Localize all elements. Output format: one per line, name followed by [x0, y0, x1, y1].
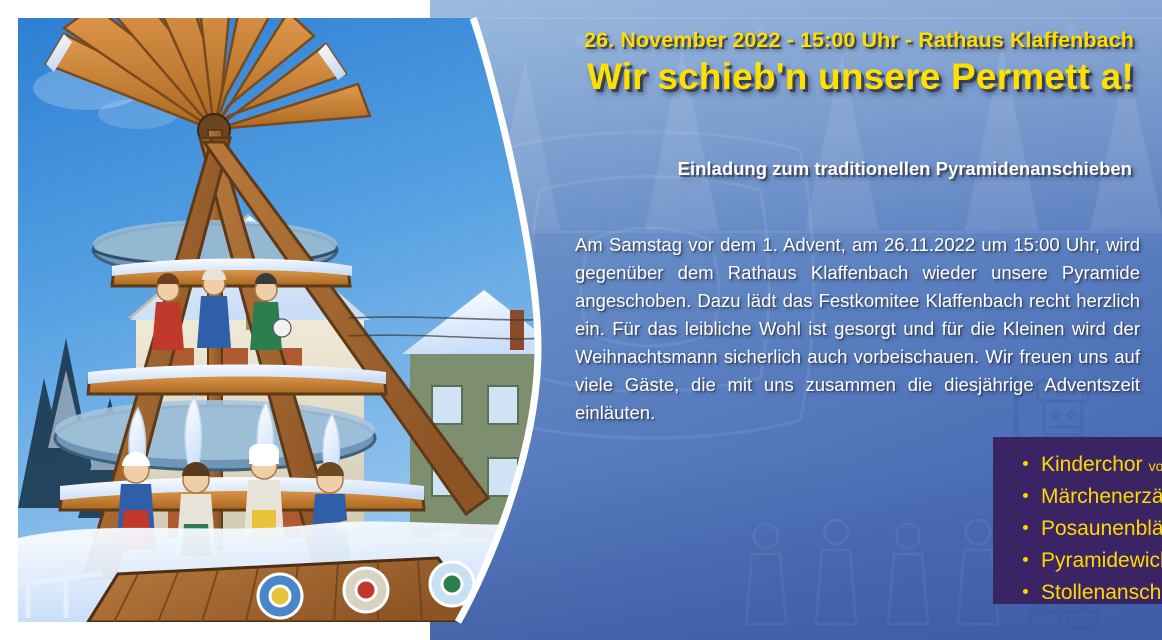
- carved-figures-watermark-icon: [732, 510, 1012, 640]
- bullet-dot-icon: [1023, 493, 1028, 498]
- program-box: Kinderchor von Grundschule und Kindergar…: [993, 437, 1162, 604]
- pyramid-photo: [18, 18, 558, 622]
- list-item: Märchenerzählerin: [1023, 481, 1162, 513]
- program-item-label: Posaunenbläser: [1041, 513, 1162, 545]
- program-item-label: Stollenanschnitt: [1041, 577, 1162, 609]
- program-item-label: Pyramidewichteln: [1041, 545, 1162, 577]
- list-item: Pyramidewichteln: [1023, 545, 1162, 577]
- bullet-dot-icon: [1023, 525, 1028, 530]
- program-item-label: Märchenerzählerin: [1041, 481, 1162, 513]
- program-item-label: Kinderchor: [1041, 449, 1143, 481]
- flyer-root: 26. November 2022 - 15:00 Uhr - Rathaus …: [0, 0, 1162, 640]
- headline-block: 26. November 2022 - 15:00 Uhr - Rathaus …: [430, 28, 1162, 97]
- list-item: Kinderchor von Grundschule und Kindergar…: [1023, 449, 1162, 481]
- body-copy: Am Samstag vor dem 1. Advent, am 26.11.2…: [575, 231, 1140, 428]
- subhead: Einladung zum traditionellen Pyramidenan…: [430, 158, 1162, 180]
- program-item-note: von Grundschule und Kindergarten: [1149, 456, 1162, 477]
- page-title: Wir schieb'n unsere Permett a!: [430, 56, 1134, 97]
- list-item: Posaunenbläser: [1023, 513, 1162, 545]
- bullet-dot-icon: [1023, 557, 1028, 562]
- program-list: Kinderchor von Grundschule und Kindergar…: [1023, 449, 1162, 609]
- event-kicker: 26. November 2022 - 15:00 Uhr - Rathaus …: [430, 28, 1134, 53]
- bullet-dot-icon: [1023, 461, 1028, 466]
- bullet-dot-icon: [1023, 589, 1028, 594]
- list-item: Stollenanschnitt: [1023, 577, 1162, 609]
- content-panel: 26. November 2022 - 15:00 Uhr - Rathaus …: [430, 0, 1162, 640]
- pyramid-photo-image: [18, 18, 558, 622]
